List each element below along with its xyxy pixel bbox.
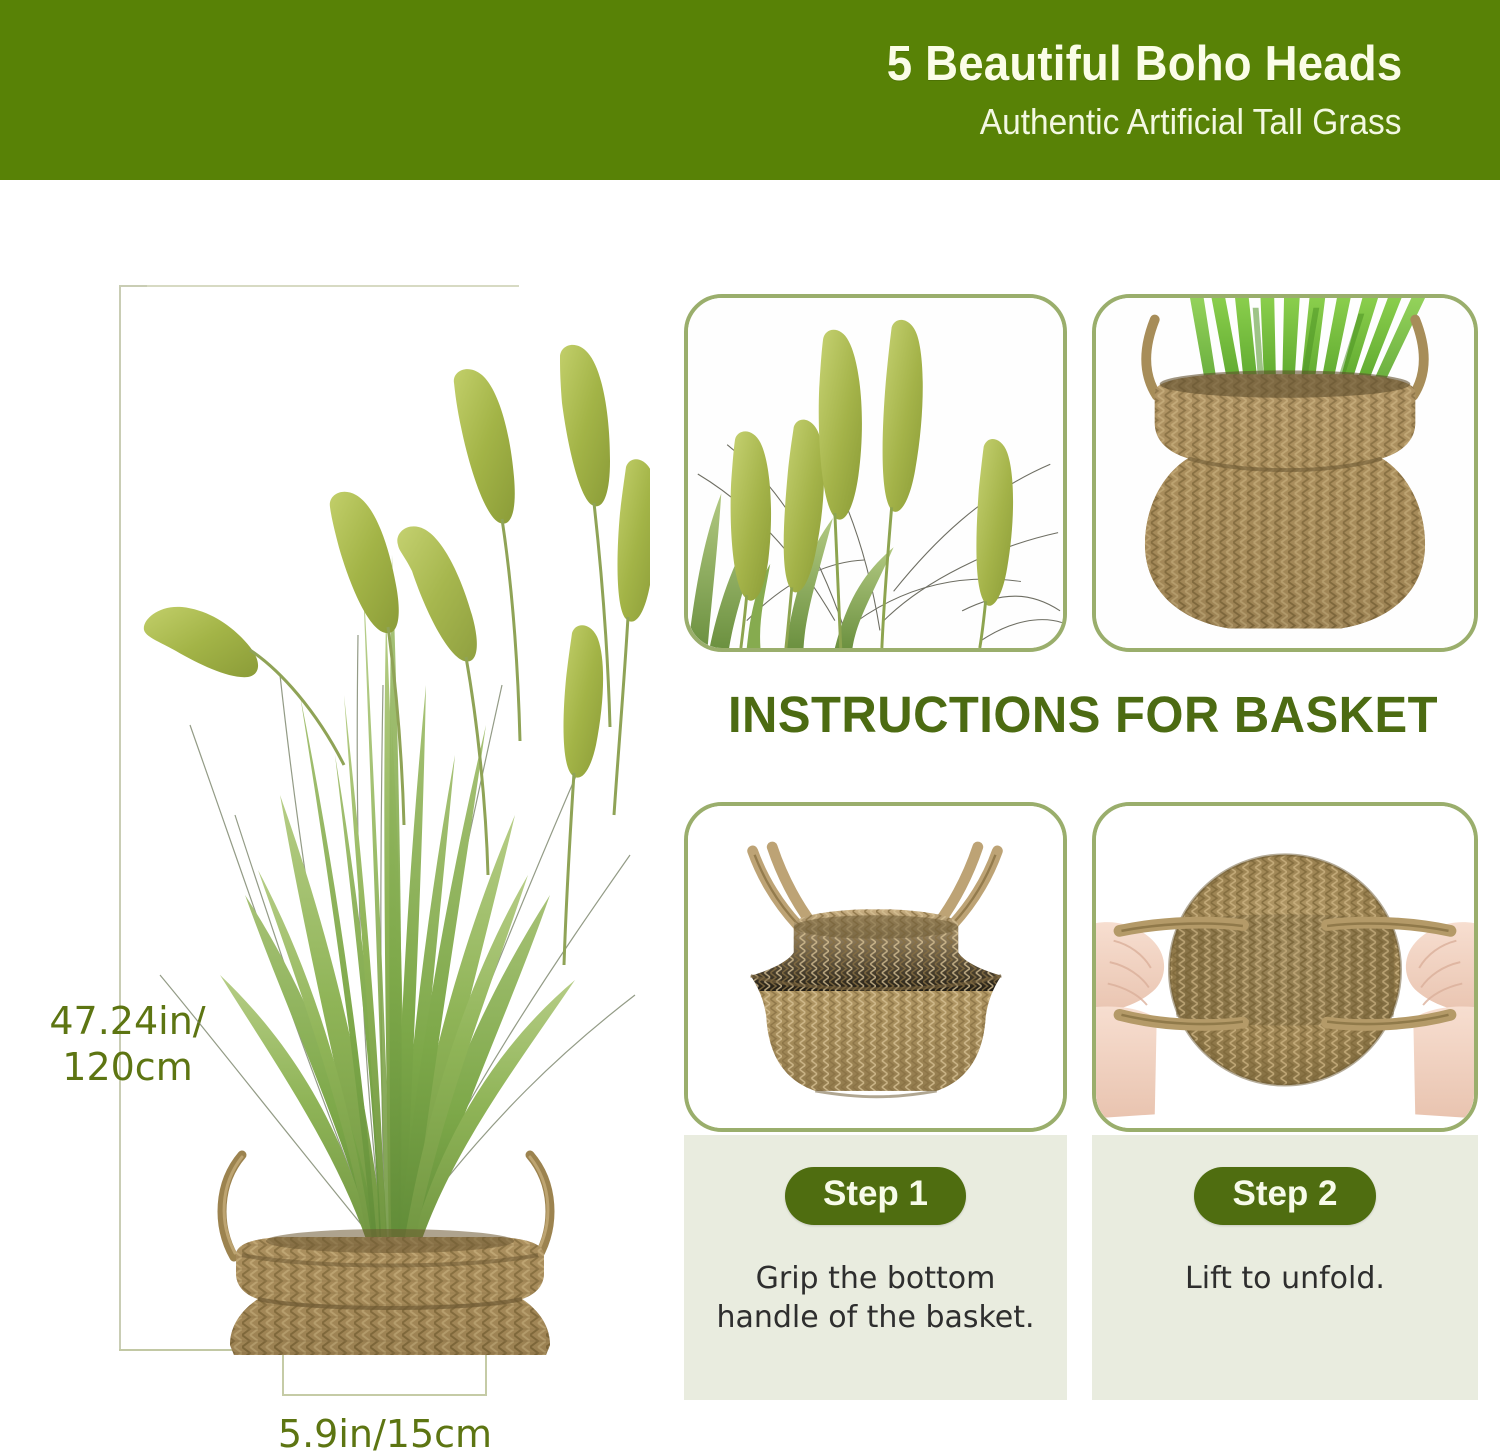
detail-card-basket-with-grass [1092,294,1478,652]
step-2-caption: Lift to unfold. [1111,1259,1458,1299]
detail-card-grass-heads [684,294,1067,652]
banner-title: 5 Beautiful Boho Heads [886,39,1402,90]
width-dimension-label: 5.9in/15cm [245,1412,525,1456]
product-photo-grass-in-basket [130,255,650,1355]
width-dimension-bracket [282,1350,487,1396]
step-2-image-card [1092,802,1478,1132]
banner-subtitle: Authentic Artificial Tall Grass [980,103,1402,141]
step-2-panel: Step 2 Lift to unfold. [1092,1135,1478,1400]
hero-product-section: 47.24in/ 120cm 5.9in/15cm [0,180,660,1456]
step-1-badge: Step 1 [785,1167,966,1225]
instructions-heading: INSTRUCTIONS FOR BASKET [696,685,1470,744]
header-banner: 5 Beautiful Boho Heads Authentic Artific… [0,0,1500,180]
step-1-caption: Grip the bottom handle of the basket. [703,1259,1048,1338]
step-1-panel: Step 1 Grip the bottom handle of the bas… [684,1135,1067,1400]
step-1-image-card [684,802,1067,1132]
infographic-page: 5 Beautiful Boho Heads Authentic Artific… [0,0,1500,1456]
step-2-badge: Step 2 [1194,1167,1375,1225]
right-content-column: INSTRUCTIONS FOR BASKET [660,180,1500,1456]
